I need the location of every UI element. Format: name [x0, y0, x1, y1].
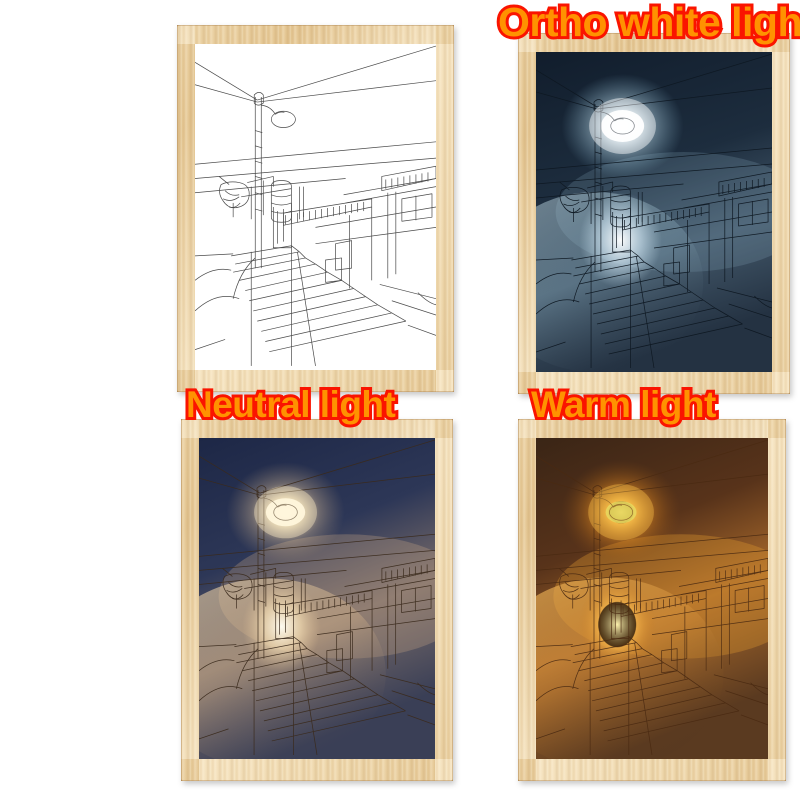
- scene-svg-warm: [536, 438, 768, 759]
- scene-svg-ortho-white: [536, 52, 772, 372]
- caption-ortho-white-fill: Ortho white ligh: [498, 2, 800, 43]
- artwork-warm: [536, 438, 768, 759]
- picture-frame-warm[interactable]: [518, 419, 786, 781]
- artwork-neutral: [199, 438, 435, 759]
- scene-svg-neutral: [199, 438, 435, 759]
- artwork-ortho-white: [536, 52, 772, 372]
- picture-frame-ortho-white[interactable]: [518, 33, 790, 394]
- picture-frame-line-art[interactable]: [177, 25, 454, 392]
- caption-neutral-fill: Neutral light: [186, 386, 395, 423]
- screenshot-stage: Ortho white ligh Ortho white ligh Neutra…: [0, 0, 800, 800]
- picture-frame-neutral[interactable]: [181, 419, 453, 781]
- caption-warm-fill: Warm light: [531, 386, 716, 423]
- scene-svg-line-art: [195, 44, 436, 370]
- artwork-line-art: [195, 44, 436, 370]
